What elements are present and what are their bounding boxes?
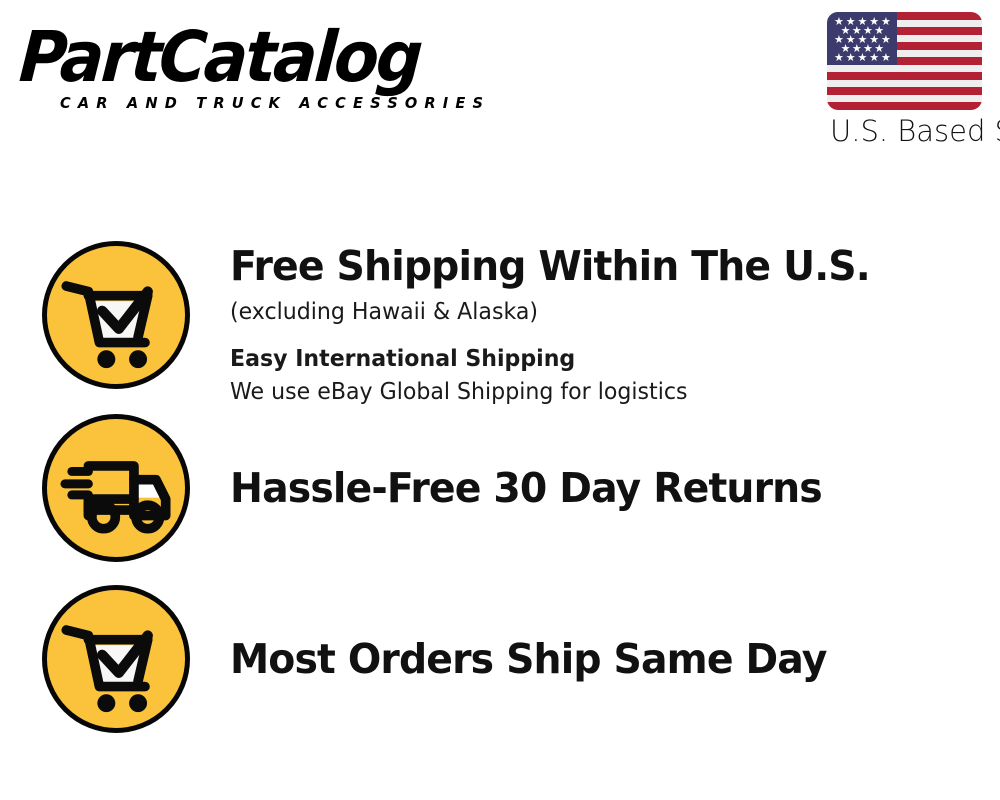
flag-star: ★ bbox=[881, 54, 891, 63]
flag-star: ★ bbox=[846, 54, 856, 63]
flag-canton: ★★★★★ ★★★★ ★★★★★ ★★★★ ★★★★★ bbox=[827, 12, 897, 65]
shopping-cart-check-icon bbox=[42, 241, 190, 389]
feature-headline: Hassle-Free 30 Day Returns bbox=[230, 464, 969, 512]
feature-headline: Most Orders Ship Same Day bbox=[230, 635, 969, 683]
delivery-truck-icon bbox=[42, 414, 190, 562]
shopping-cart-check-icon bbox=[42, 585, 190, 733]
feature-row: Free Shipping Within The U.S. (excluding… bbox=[0, 230, 1000, 402]
flag-star: ★ bbox=[857, 54, 867, 63]
feature-list: Free Shipping Within The U.S. (excluding… bbox=[0, 230, 1000, 745]
feature-row: Hassle-Free 30 Day Returns bbox=[0, 402, 1000, 573]
feature-subline: Easy International Shipping bbox=[230, 343, 969, 375]
page-header: PartCatalog CAR AND TRUCK ACCESSORIES ★★… bbox=[0, 0, 1000, 175]
feature-row: Most Orders Ship Same Day bbox=[0, 573, 1000, 745]
flag-stripe bbox=[827, 72, 982, 80]
feature-copy: Hassle-Free 30 Day Returns bbox=[230, 464, 1000, 512]
feature-headline: Free Shipping Within The U.S. bbox=[230, 242, 969, 290]
us-based-seller-caption: U.S. Based Seller bbox=[830, 114, 988, 148]
flag-star: ★ bbox=[869, 54, 879, 63]
flag-star-row: ★★★★★ bbox=[833, 54, 892, 63]
brand-logo-tagline: CAR AND TRUCK ACCESSORIES bbox=[60, 94, 490, 112]
feature-subline: (excluding Hawaii & Alaska) bbox=[230, 296, 969, 328]
flag-star: ★ bbox=[834, 54, 844, 63]
flag-stripe bbox=[827, 87, 982, 95]
us-flag-icon: ★★★★★ ★★★★ ★★★★★ ★★★★ ★★★★★ bbox=[827, 12, 982, 110]
feature-copy: Most Orders Ship Same Day bbox=[230, 635, 1000, 683]
brand-logo[interactable]: PartCatalog CAR AND TRUCK ACCESSORIES bbox=[22, 22, 492, 117]
feature-copy: Free Shipping Within The U.S. (excluding… bbox=[230, 230, 1000, 408]
us-based-seller-badge: ★★★★★ ★★★★ ★★★★★ ★★★★ ★★★★★ U.S. Based S… bbox=[824, 12, 982, 148]
flag-stripe bbox=[827, 102, 982, 110]
brand-logo-wordmark: PartCatalog bbox=[17, 22, 459, 92]
